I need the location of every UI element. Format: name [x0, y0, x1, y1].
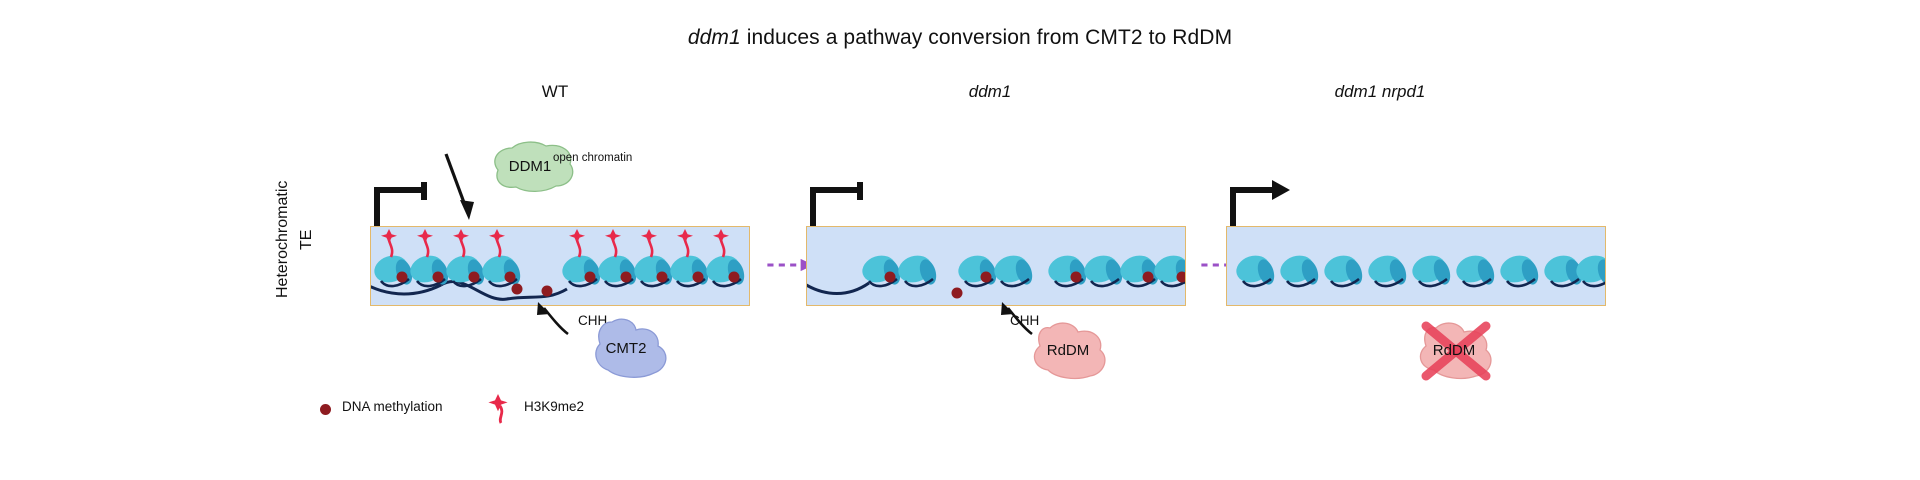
- figure-title-gene: ddm1: [688, 26, 741, 49]
- panel-label-ddm1: ddm1: [900, 82, 1080, 102]
- chromatin-content-wt: [371, 227, 750, 306]
- legend-dna-methylation-icon: [320, 404, 331, 415]
- rddm-blob-label-ddm1: RdDM: [1020, 342, 1116, 359]
- repression-bar-wt: [372, 180, 442, 230]
- open-chromatin-note: open chromatin: [553, 152, 632, 164]
- chromatin-box-wt: [370, 226, 750, 306]
- h3k9me2-marks-wt: [381, 229, 729, 257]
- repression-bar-ddm1: [808, 180, 878, 230]
- legend-h3k9me2-icon: [486, 392, 516, 424]
- open-chromatin-arrow: [436, 150, 566, 232]
- chromatin-box-ddm1: [806, 226, 1186, 306]
- y-axis-caption-line1: Heterochromatic: [274, 181, 292, 298]
- y-axis-caption-line2: TE: [298, 230, 316, 250]
- rddm-blob-label-nrpd1: RdDM: [1406, 342, 1502, 359]
- diagram-canvas: ddm1 induces a pathway conversion from C…: [0, 0, 1920, 480]
- legend-dna-methylation-label: DNA methylation: [342, 399, 443, 414]
- figure-title: ddm1 induces a pathway conversion from C…: [0, 26, 1920, 50]
- transcription-arrow-nrpd1: [1228, 180, 1298, 230]
- chromatin-content-ddm1: [807, 227, 1186, 306]
- panel-label-ddm1-nrpd1: ddm1 nrpd1: [1240, 82, 1520, 102]
- panel-label-wt: WT: [490, 82, 620, 102]
- cmt2-blob-label: CMT2: [578, 340, 674, 357]
- figure-title-rest: induces a pathway conversion from CMT2 t…: [741, 26, 1232, 49]
- chromatin-box-nrpd1: [1226, 226, 1606, 306]
- legend-h3k9me2-label: H3K9me2: [524, 399, 584, 414]
- y-axis-caption: Heterochromatic TE: [258, 130, 304, 300]
- chromatin-content-nrpd1: [1227, 227, 1606, 306]
